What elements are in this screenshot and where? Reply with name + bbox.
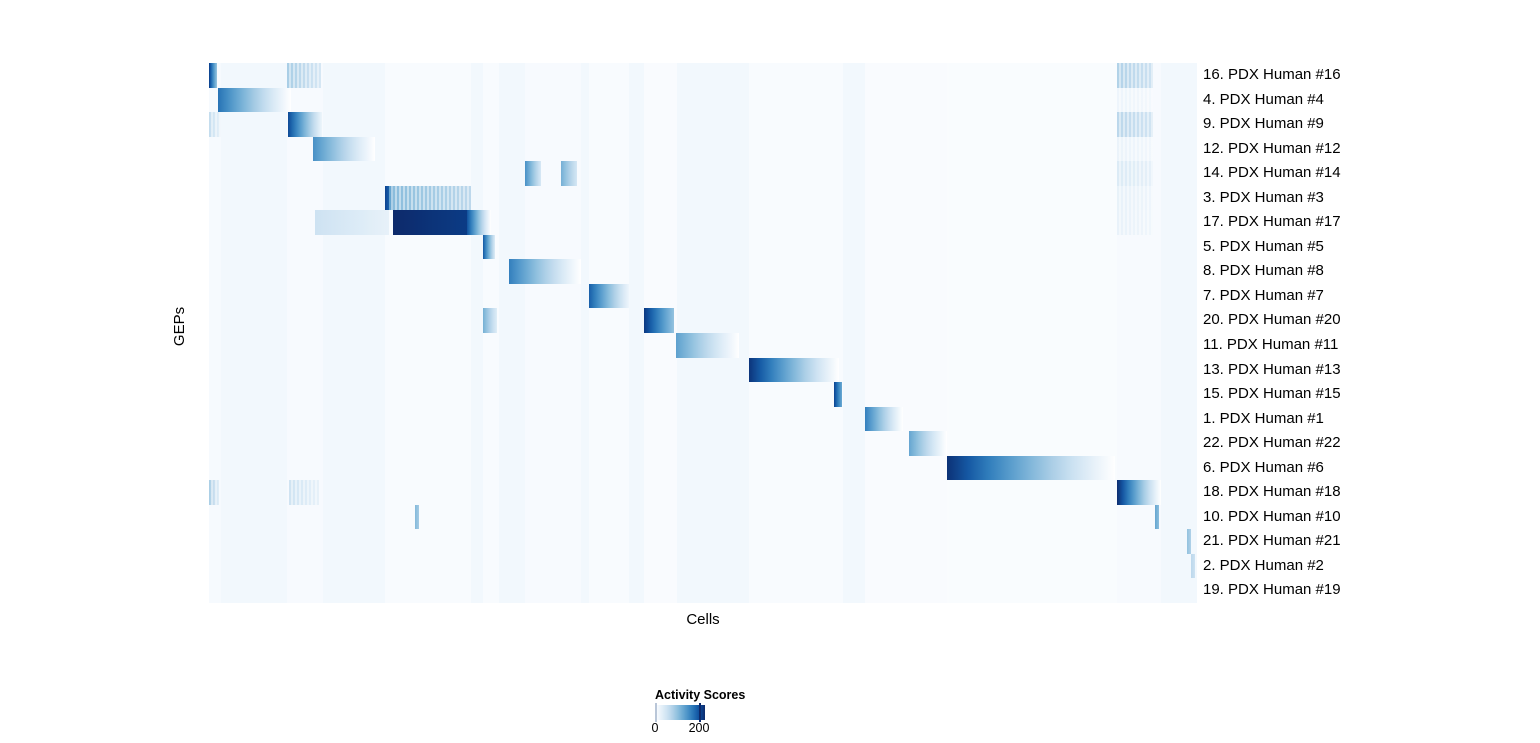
heatmap-row[interactable]: [209, 456, 1197, 481]
heatmap-block: [1191, 554, 1195, 579]
heatmap-row-labels: 16. PDX Human #164. PDX Human #49. PDX H…: [1203, 63, 1533, 603]
heatmap-stripe-overlay: [1117, 210, 1153, 235]
heatmap-stripe-overlay: [389, 186, 471, 211]
heatmap-block: [393, 210, 467, 235]
heatmap-block: [561, 161, 577, 186]
heatmap-row[interactable]: [209, 431, 1197, 456]
heatmap-row[interactable]: [209, 480, 1197, 505]
heatmap-block: [865, 407, 903, 432]
heatmap-block: [749, 358, 839, 383]
heatmap-row[interactable]: [209, 529, 1197, 554]
heatmap-row-label: 1. PDX Human #1: [1203, 407, 1324, 432]
heatmap-row[interactable]: [209, 63, 1197, 88]
heatmap-row-label: 7. PDX Human #7: [1203, 284, 1324, 309]
heatmap-stripe-overlay: [1117, 88, 1153, 113]
heatmap-block: [644, 308, 674, 333]
heatmap-block: [288, 112, 322, 137]
heatmap-block: [525, 161, 541, 186]
heatmap-row-label: 19. PDX Human #19: [1203, 578, 1341, 603]
heatmap-stripe-overlay: [1117, 63, 1153, 88]
heatmap-row-label: 2. PDX Human #2: [1203, 554, 1324, 579]
heatmap-figure: GEPs 16. PDX Human #164. PDX Human #49. …: [0, 0, 1540, 743]
heatmap-row-label: 12. PDX Human #12: [1203, 137, 1341, 162]
heatmap-row-label: 3. PDX Human #3: [1203, 186, 1324, 211]
heatmap-row[interactable]: [209, 112, 1197, 137]
heatmap-row[interactable]: [209, 259, 1197, 284]
heatmap-row[interactable]: [209, 382, 1197, 407]
heatmap-row[interactable]: [209, 358, 1197, 383]
heatmap-row-label: 4. PDX Human #4: [1203, 88, 1324, 113]
y-axis-label: GEPs: [168, 291, 192, 361]
heatmap-block: [467, 210, 491, 235]
colorbar-gradient: [655, 705, 705, 720]
heatmap-row-label: 14. PDX Human #14: [1203, 161, 1341, 186]
heatmap-row[interactable]: [209, 137, 1197, 162]
heatmap-row-label: 18. PDX Human #18: [1203, 480, 1341, 505]
colorbar-legend: Activity Scores 0200: [655, 688, 855, 737]
heatmap-block: [589, 284, 629, 309]
heatmap-row[interactable]: [209, 186, 1197, 211]
heatmap-row-label: 22. PDX Human #22: [1203, 431, 1341, 456]
heatmap-row-label: 16. PDX Human #16: [1203, 63, 1341, 88]
heatmap-block: [1117, 480, 1161, 505]
heatmap-grid[interactable]: [209, 63, 1197, 603]
heatmap-stripe-overlay: [287, 63, 321, 88]
heatmap-row[interactable]: [209, 235, 1197, 260]
heatmap-row[interactable]: [209, 407, 1197, 432]
heatmap-row[interactable]: [209, 554, 1197, 579]
heatmap-stripe-overlay: [1117, 186, 1153, 211]
heatmap-block: [676, 333, 739, 358]
heatmap-stripe-overlay: [289, 480, 319, 505]
heatmap-stripe-overlay: [1117, 112, 1153, 137]
heatmap-row-label: 8. PDX Human #8: [1203, 259, 1324, 284]
x-axis-label-text: Cells: [686, 611, 719, 628]
heatmap-row[interactable]: [209, 88, 1197, 113]
heatmap-row[interactable]: [209, 333, 1197, 358]
colorbar-tick-label: 200: [689, 721, 710, 735]
heatmap-row[interactable]: [209, 161, 1197, 186]
heatmap-row-label: 10. PDX Human #10: [1203, 505, 1341, 530]
y-axis-label-text: GEPs: [172, 306, 189, 345]
heatmap-stripe-overlay: [1117, 137, 1153, 162]
heatmap-block: [315, 210, 389, 235]
heatmap-row-label: 15. PDX Human #15: [1203, 382, 1341, 407]
heatmap-row-label: 6. PDX Human #6: [1203, 456, 1324, 481]
heatmap-row[interactable]: [209, 505, 1197, 530]
heatmap-block: [509, 259, 581, 284]
heatmap-row-label: 20. PDX Human #20: [1203, 308, 1341, 333]
heatmap-block: [313, 137, 375, 162]
heatmap-stripe-overlay: [209, 112, 221, 137]
heatmap-block: [1155, 505, 1159, 530]
heatmap-row[interactable]: [209, 284, 1197, 309]
x-axis-label: Cells: [209, 611, 1197, 628]
heatmap-block: [947, 456, 1115, 481]
heatmap-row[interactable]: [209, 578, 1197, 603]
heatmap-row-label: 9. PDX Human #9: [1203, 112, 1324, 137]
heatmap-block: [1187, 529, 1191, 554]
heatmap-row-label: 11. PDX Human #11: [1203, 333, 1338, 358]
heatmap-block: [909, 431, 947, 456]
heatmap-stripe-overlay: [1117, 161, 1153, 186]
heatmap-row[interactable]: [209, 210, 1197, 235]
colorbar-tick: [699, 703, 701, 722]
heatmap-block: [209, 63, 217, 88]
colorbar-tick-label: 0: [652, 721, 659, 735]
heatmap-block: [483, 235, 495, 260]
heatmap-row-label: 13. PDX Human #13: [1203, 358, 1341, 383]
colorbar-tick-labels: 0200: [655, 721, 855, 737]
heatmap-row-label: 17. PDX Human #17: [1203, 210, 1341, 235]
colorbar-tick: [655, 703, 657, 722]
heatmap-block: [415, 505, 419, 530]
heatmap-block: [834, 382, 842, 407]
heatmap-block: [218, 88, 291, 113]
heatmap-stripe-overlay: [209, 480, 219, 505]
heatmap-row-label: 21. PDX Human #21: [1203, 529, 1341, 554]
colorbar-title: Activity Scores: [655, 688, 855, 702]
heatmap-row[interactable]: [209, 308, 1197, 333]
heatmap-block: [483, 308, 497, 333]
heatmap-row-label: 5. PDX Human #5: [1203, 235, 1324, 260]
